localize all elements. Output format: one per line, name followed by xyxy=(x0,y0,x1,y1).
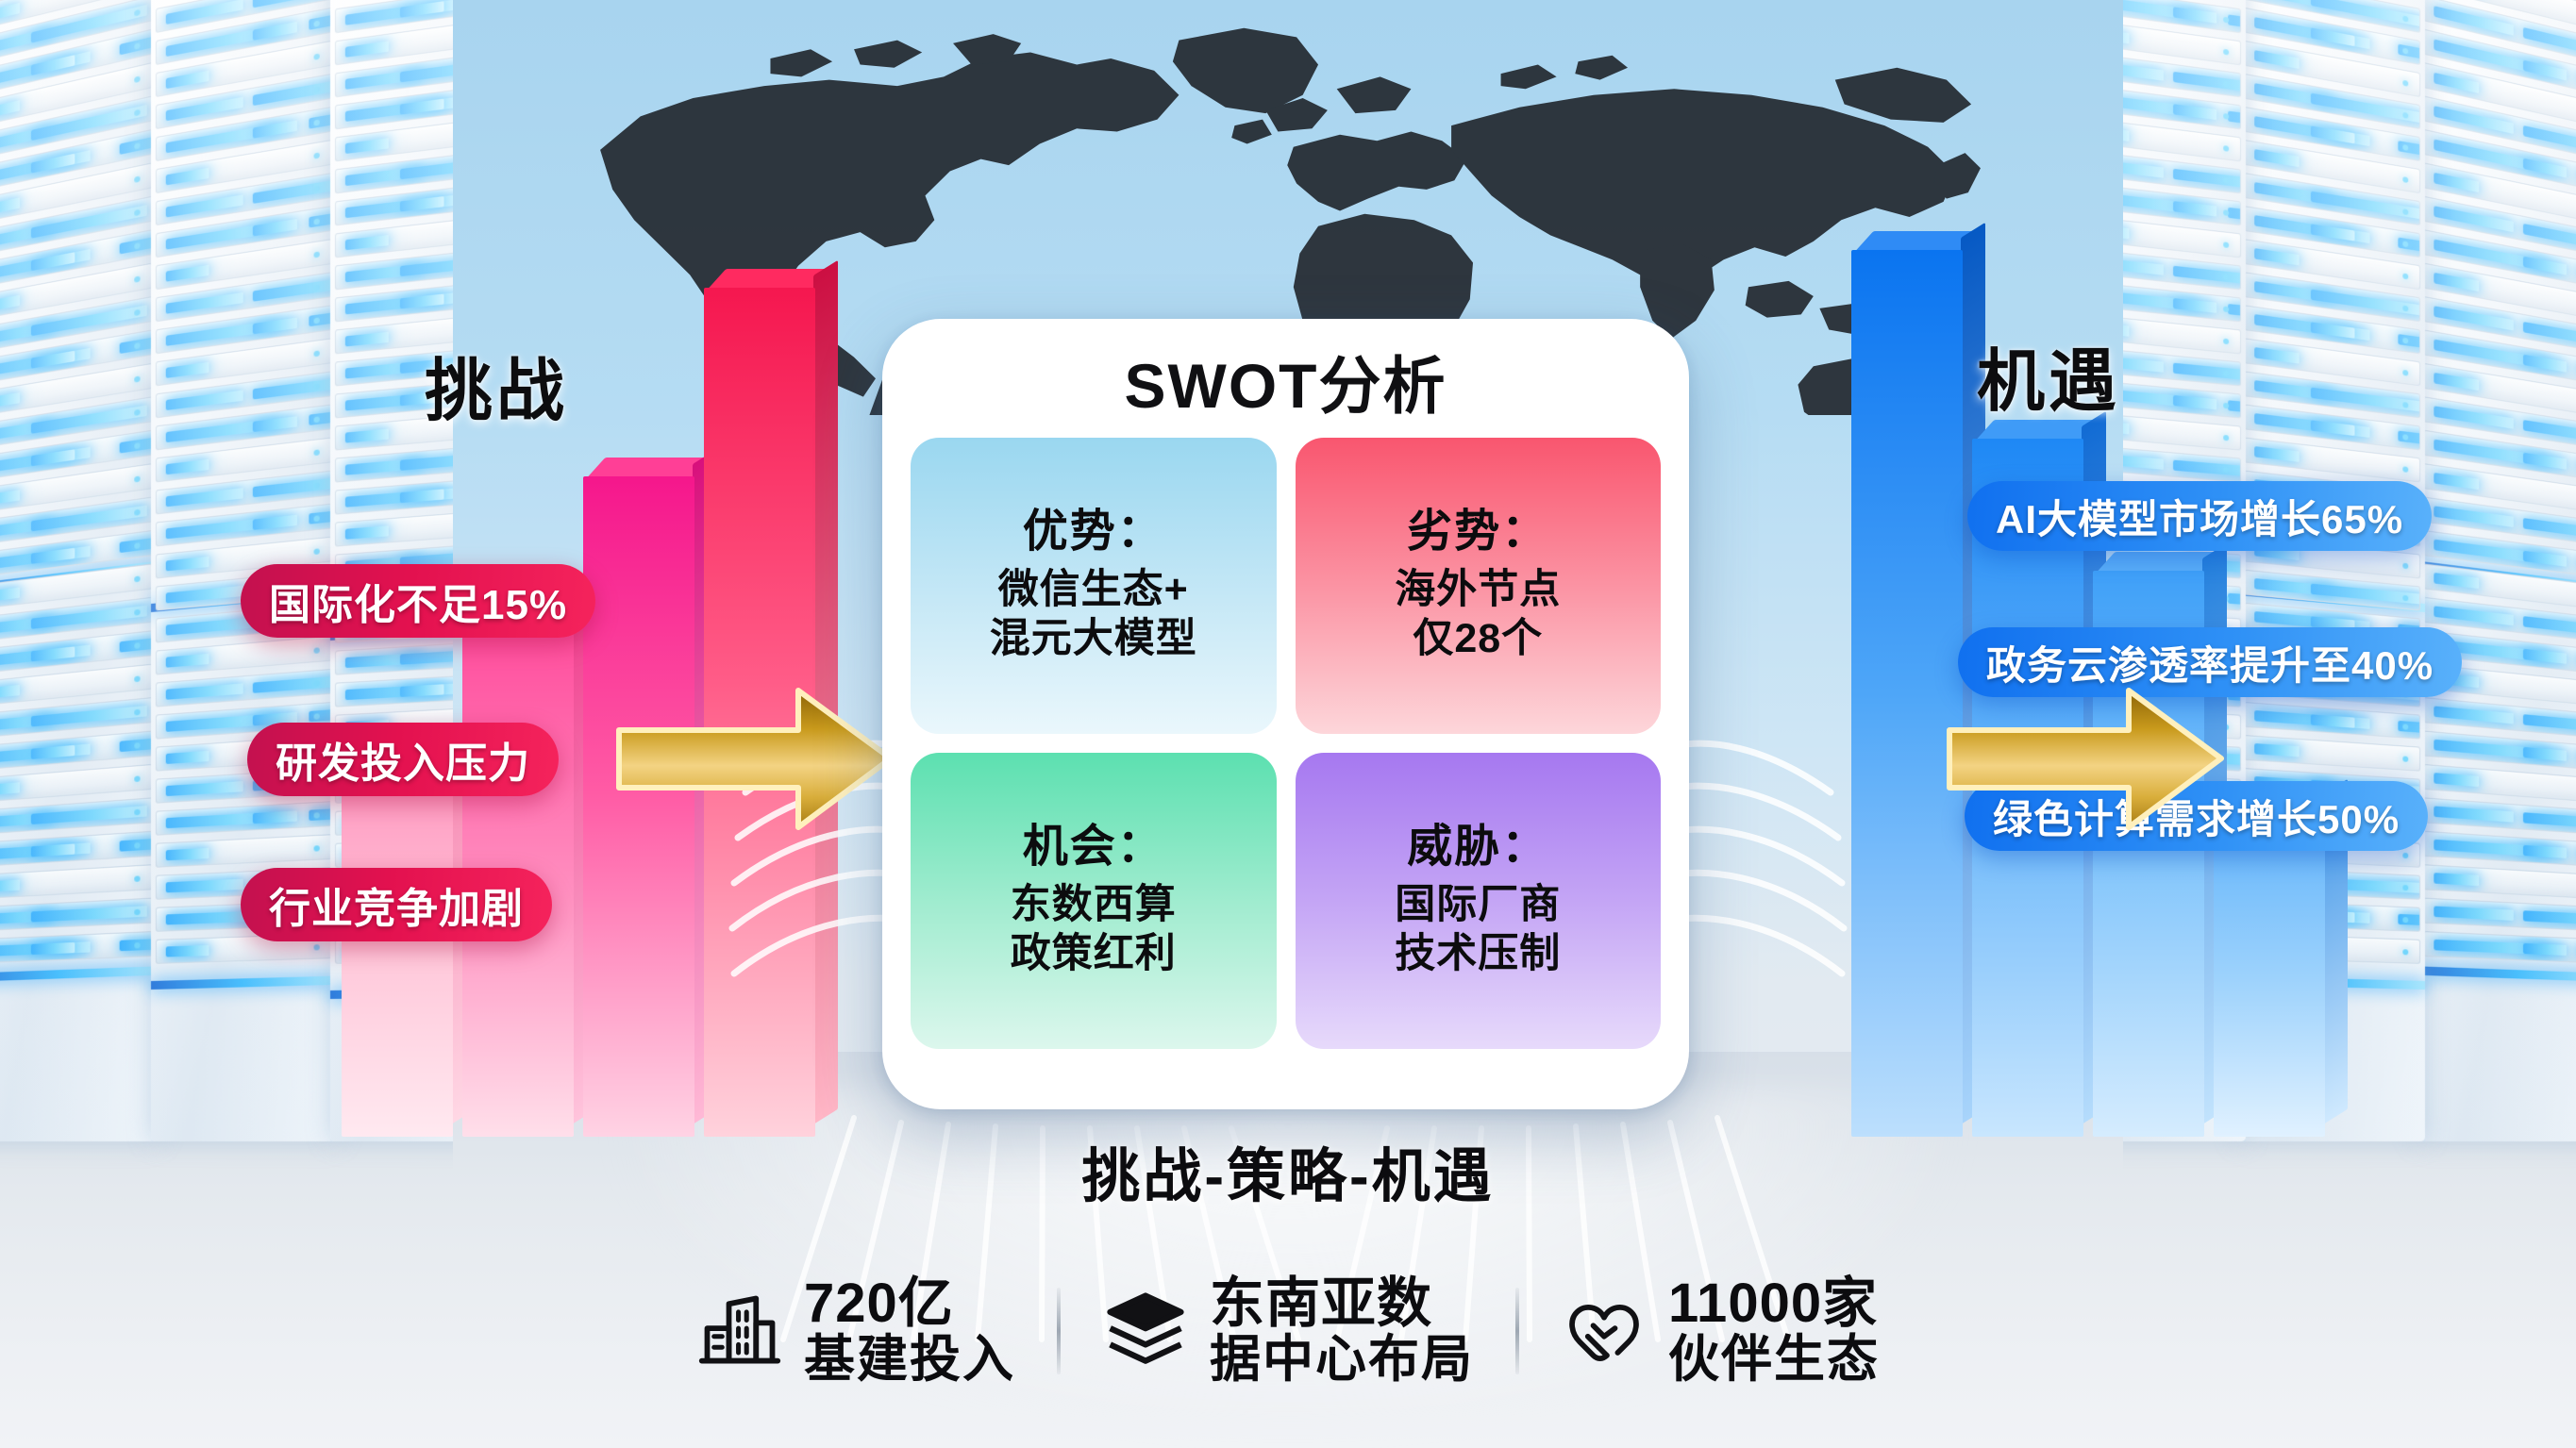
server-led xyxy=(0,322,54,345)
server-led xyxy=(166,654,209,668)
stat-item[interactable]: 720亿 基建投入 xyxy=(655,1275,1057,1387)
server-unit xyxy=(2244,272,2420,322)
server-led xyxy=(2434,840,2550,857)
server-led xyxy=(0,616,54,635)
server-led xyxy=(0,3,20,24)
quadrant-body-line-2: 技术压制 xyxy=(1395,929,1561,978)
server-unit xyxy=(335,674,453,707)
quadrant-body-line-1: 海外节点 xyxy=(1395,565,1561,614)
server-unit xyxy=(2123,18,2241,65)
server-led xyxy=(2434,806,2514,822)
server-led xyxy=(0,910,54,924)
server-led xyxy=(166,265,209,282)
server-led xyxy=(2123,60,2164,81)
server-status-dot xyxy=(134,675,140,682)
server-unit xyxy=(335,444,453,483)
server-led xyxy=(2434,906,2514,920)
server-led xyxy=(2434,273,2479,291)
server-led xyxy=(120,734,154,752)
server-status-dot xyxy=(134,775,140,782)
server-unit xyxy=(0,496,153,546)
server-led xyxy=(166,362,209,378)
gold-arrow-right-icon xyxy=(1944,681,2227,837)
server-led xyxy=(2228,304,2241,322)
server-led xyxy=(166,0,243,25)
server-led xyxy=(2434,473,2479,490)
server-status-dot xyxy=(134,342,140,349)
server-status-dot xyxy=(134,142,140,150)
server-status-dot xyxy=(2223,403,2229,409)
challenge-pill-3[interactable]: 行业竞争加剧 xyxy=(241,868,552,941)
server-led xyxy=(253,810,297,824)
server-unit xyxy=(2423,898,2576,932)
server-led xyxy=(345,166,423,186)
server-led xyxy=(253,22,297,41)
server-status-dot xyxy=(134,175,140,183)
swot-quadrant-strength[interactable]: 优势： 微信生态+ 混元大模型 xyxy=(911,438,1277,734)
server-unit xyxy=(2423,697,2576,740)
server-led xyxy=(2398,334,2420,354)
server-led xyxy=(345,525,389,540)
quadrant-body-line-1: 国际厂商 xyxy=(1395,880,1561,929)
server-led xyxy=(2434,506,2514,527)
server-led xyxy=(2311,290,2420,316)
server-led xyxy=(0,348,91,377)
server-unit xyxy=(0,831,153,868)
server-status-dot xyxy=(134,475,140,482)
server-status-dot xyxy=(134,542,140,549)
server-led xyxy=(2123,420,2129,434)
server-status-dot xyxy=(2223,177,2229,184)
server-led xyxy=(0,685,20,700)
server-unit xyxy=(2244,0,2420,33)
server-status-dot xyxy=(314,845,320,851)
server-unit xyxy=(2423,0,2576,65)
server-unit xyxy=(2244,140,2420,193)
server-led xyxy=(2523,910,2576,926)
flow-caption: 挑战-策略-机遇 xyxy=(0,1128,2576,1213)
server-led xyxy=(0,518,54,539)
challenge-pill-1[interactable]: 国际化不足15% xyxy=(241,564,595,638)
server-unit xyxy=(156,239,332,290)
server-unit xyxy=(2423,229,2576,290)
server-status-dot xyxy=(2402,241,2408,247)
server-led xyxy=(345,69,423,90)
server-status-dot xyxy=(314,350,320,357)
server-unit xyxy=(2423,563,2576,610)
server-unit xyxy=(2244,735,2420,772)
server-led xyxy=(400,293,444,308)
server-status-dot xyxy=(2402,338,2408,344)
server-status-dot xyxy=(134,609,140,616)
server-status-dot xyxy=(314,87,320,93)
server-status-dot xyxy=(2223,241,2229,248)
server-led xyxy=(2254,380,2333,401)
server-led xyxy=(2123,158,2164,178)
heading-challenges: 挑战 xyxy=(425,335,568,434)
server-unit xyxy=(2423,329,2576,386)
server-status-dot xyxy=(2402,176,2408,183)
server-unit xyxy=(0,530,153,579)
server-status-dot xyxy=(134,42,140,50)
server-unit xyxy=(0,597,153,643)
server-unit xyxy=(0,262,153,322)
server-status-dot xyxy=(2402,563,2408,570)
server-status-dot xyxy=(314,515,320,522)
server-unit xyxy=(156,74,332,129)
server-led xyxy=(2398,914,2420,927)
server-unit xyxy=(0,764,153,804)
server-status-dot xyxy=(2223,145,2229,152)
server-led xyxy=(345,653,423,668)
server-unit xyxy=(0,329,153,386)
server-led xyxy=(0,249,91,281)
server-unit xyxy=(335,51,453,97)
server-led xyxy=(31,646,75,661)
server-led xyxy=(2434,140,2550,175)
server-status-dot xyxy=(2223,17,2229,24)
server-status-dot xyxy=(2402,853,2408,858)
quadrant-body-line-1: 微信生态+ xyxy=(998,565,1189,614)
server-status-dot xyxy=(2402,756,2408,761)
server-unit xyxy=(2123,116,2241,161)
server-unit xyxy=(2123,214,2241,258)
server-led xyxy=(2434,773,2479,787)
server-unit xyxy=(0,664,153,707)
server-unit xyxy=(156,636,332,675)
server-led xyxy=(120,836,154,852)
server-status-dot xyxy=(314,482,320,489)
stat-item[interactable]: 11000家 伙伴生态 xyxy=(1519,1275,1921,1387)
server-unit xyxy=(0,162,153,225)
quadrant-body-line-1: 东数西算 xyxy=(1011,880,1177,929)
server-led xyxy=(2523,714,2576,735)
building-icon xyxy=(696,1288,783,1374)
server-led xyxy=(400,99,444,115)
server-unit xyxy=(2423,530,2576,579)
server-led xyxy=(2254,314,2369,341)
server-led xyxy=(2523,355,2567,373)
quadrant-title: 威胁： xyxy=(1407,823,1548,873)
gold-arrow-right-icon xyxy=(613,681,896,837)
server-status-dot xyxy=(314,185,320,191)
server-led xyxy=(0,546,91,571)
server-unit xyxy=(156,140,332,193)
server-led xyxy=(253,318,297,335)
server-unit xyxy=(2423,430,2576,483)
server-unit xyxy=(0,797,153,835)
server-led xyxy=(309,206,332,227)
server-led xyxy=(345,138,389,154)
server-led xyxy=(2311,388,2420,412)
server-led xyxy=(166,459,209,474)
server-led xyxy=(2254,50,2299,69)
server-rack xyxy=(0,0,158,1141)
server-led xyxy=(2434,106,2514,134)
server-unit xyxy=(156,471,332,515)
server-led xyxy=(2228,400,2241,417)
server-led xyxy=(253,674,332,693)
server-led xyxy=(166,25,280,57)
server-status-dot xyxy=(314,812,320,819)
server-status-dot xyxy=(134,742,140,749)
server-led xyxy=(2123,257,2164,275)
server-unit xyxy=(0,898,153,932)
server-led xyxy=(2398,721,2420,737)
server-unit xyxy=(2244,371,2420,418)
stat-item[interactable]: 东南亚数 据中心布局 xyxy=(1061,1275,1515,1387)
server-status-dot xyxy=(314,284,320,291)
server-unit xyxy=(156,669,332,707)
server-led xyxy=(2123,224,2129,239)
server-led xyxy=(2311,27,2355,46)
server-led xyxy=(309,8,332,30)
server-status-dot xyxy=(134,909,140,916)
server-unit xyxy=(0,0,153,33)
server-status-dot xyxy=(2402,885,2408,890)
server-status-dot xyxy=(134,309,140,316)
server-led xyxy=(2434,39,2550,76)
server-led xyxy=(31,449,75,466)
server-led xyxy=(31,942,75,955)
server-led xyxy=(2123,453,2164,470)
server-led xyxy=(166,97,243,122)
server-unit xyxy=(0,296,153,354)
server-status-dot xyxy=(2223,113,2229,120)
server-unit xyxy=(2123,411,2241,451)
server-led xyxy=(2434,740,2550,760)
server-led xyxy=(2311,191,2420,220)
server-led xyxy=(0,150,91,185)
server-unit xyxy=(2123,345,2241,386)
server-led xyxy=(345,458,423,475)
server-status-dot xyxy=(2402,949,2408,955)
server-led xyxy=(2123,355,2164,373)
server-unit xyxy=(2423,62,2576,129)
server-led xyxy=(2434,206,2514,232)
server-status-dot xyxy=(134,842,140,849)
server-unit xyxy=(335,18,453,65)
server-status-dot xyxy=(134,575,140,582)
server-led xyxy=(166,751,209,764)
server-led xyxy=(2434,173,2479,192)
server-status-dot xyxy=(314,21,320,27)
server-led xyxy=(253,120,297,138)
server-status-dot xyxy=(2402,434,2408,441)
server-led xyxy=(0,447,91,474)
server-led xyxy=(2523,322,2576,352)
handshake-icon xyxy=(1561,1288,1648,1374)
server-led xyxy=(2228,208,2241,226)
server-status-dot xyxy=(2223,209,2229,216)
server-led xyxy=(2254,83,2333,108)
server-unit xyxy=(335,280,453,323)
server-led xyxy=(2254,182,2333,206)
server-led xyxy=(120,28,154,55)
swot-quadrant-opportunity[interactable]: 机会： 东数西算 政策红利 xyxy=(911,753,1277,1049)
server-led xyxy=(120,937,154,951)
server-led xyxy=(253,374,332,400)
server-led xyxy=(2254,215,2369,243)
server-unit xyxy=(2244,8,2420,65)
server-status-dot xyxy=(134,9,140,17)
server-led xyxy=(2173,7,2216,23)
server-led xyxy=(2434,706,2514,724)
server-status-dot xyxy=(134,375,140,382)
server-unit xyxy=(2423,730,2576,771)
server-led xyxy=(253,75,332,106)
server-led xyxy=(2311,93,2420,124)
server-rack xyxy=(2418,0,2576,1141)
server-led xyxy=(2254,347,2299,364)
server-led xyxy=(120,329,154,354)
server-unit xyxy=(2423,463,2576,514)
server-led xyxy=(345,361,423,379)
server-unit xyxy=(2123,280,2241,323)
server-led xyxy=(2523,158,2567,178)
server-led xyxy=(166,292,243,314)
server-led xyxy=(2311,322,2355,339)
server-led xyxy=(0,197,20,216)
server-led xyxy=(345,429,389,443)
server-led xyxy=(120,633,154,653)
server-led xyxy=(2523,616,2576,639)
server-led xyxy=(2523,27,2576,64)
server-led xyxy=(2434,940,2550,955)
server-led xyxy=(2123,125,2129,141)
server-led xyxy=(166,781,243,796)
stat-label: 基建投入 xyxy=(804,1333,1015,1387)
server-led xyxy=(2311,420,2355,436)
server-status-dot xyxy=(2402,724,2408,729)
server-status-dot xyxy=(2223,371,2229,377)
server-led xyxy=(0,842,91,860)
server-status-dot xyxy=(2223,307,2229,313)
server-unit xyxy=(156,404,332,450)
server-unit xyxy=(335,0,453,33)
server-status-dot xyxy=(314,152,320,158)
server-led xyxy=(309,706,332,722)
server-unit xyxy=(2244,702,2420,740)
server-unit xyxy=(156,41,332,97)
server-unit xyxy=(2423,162,2576,225)
server-led xyxy=(166,124,280,154)
server-led xyxy=(345,235,389,250)
server-led xyxy=(166,557,209,572)
server-status-dot xyxy=(2223,467,2229,474)
server-unit xyxy=(2123,182,2241,226)
opportunity-pill-1[interactable]: AI大模型市场增长65% xyxy=(1967,481,2432,551)
server-led xyxy=(166,586,243,604)
server-led xyxy=(31,548,75,564)
server-led xyxy=(31,305,147,336)
server-led xyxy=(2254,248,2299,265)
server-led xyxy=(166,418,280,442)
server-led xyxy=(120,229,154,255)
server-led xyxy=(31,105,147,141)
server-status-dot xyxy=(134,809,140,816)
server-status-dot xyxy=(2402,917,2408,923)
server-unit xyxy=(2423,95,2576,161)
server-unit xyxy=(335,116,453,161)
swot-quadrant-grid: 优势： 微信生态+ 混元大模型 劣势： 海外节点 仅28个 机会： 东数西算 政… xyxy=(911,438,1661,1049)
server-led xyxy=(253,416,297,432)
server-led xyxy=(2523,845,2567,858)
server-led xyxy=(0,645,91,668)
server-status-dot xyxy=(314,944,320,950)
server-status-dot xyxy=(2402,208,2408,215)
server-led xyxy=(2123,387,2200,408)
server-led xyxy=(309,806,332,821)
server-led xyxy=(0,490,20,506)
server-unit xyxy=(156,437,332,482)
swot-quadrant-weakness[interactable]: 劣势： 海外节点 仅28个 xyxy=(1296,438,1662,734)
server-unit xyxy=(0,28,153,96)
server-led xyxy=(2123,191,2200,214)
server-unit xyxy=(156,305,332,354)
server-led xyxy=(2173,363,2241,384)
server-led xyxy=(400,684,444,697)
server-unit xyxy=(0,463,153,514)
stat-label: 伙伴生态 xyxy=(1668,1333,1880,1387)
server-unit xyxy=(156,173,332,225)
server-status-dot xyxy=(314,317,320,324)
server-led xyxy=(309,505,332,524)
server-led xyxy=(31,506,147,532)
server-led xyxy=(0,100,20,120)
server-led xyxy=(2254,710,2369,729)
server-unit xyxy=(2123,378,2241,418)
server-unit xyxy=(2123,444,2241,483)
server-led xyxy=(166,222,280,250)
server-led xyxy=(120,129,154,155)
server-led xyxy=(253,275,332,302)
server-led xyxy=(2523,257,2567,275)
server-unit xyxy=(2423,129,2576,193)
server-led xyxy=(2254,743,2299,757)
server-status-dot xyxy=(314,449,320,456)
server-led xyxy=(2523,551,2567,567)
stat-label: 据中心布局 xyxy=(1210,1333,1474,1387)
server-unit xyxy=(335,182,453,226)
server-led xyxy=(253,474,332,497)
server-led xyxy=(0,125,54,153)
server-led xyxy=(0,420,54,442)
server-led xyxy=(2434,373,2479,391)
server-unit xyxy=(2244,206,2420,258)
challenge-pill-2[interactable]: 研发投入压力 xyxy=(247,723,559,796)
server-led xyxy=(253,0,332,8)
server-led xyxy=(31,252,75,271)
server-led xyxy=(2123,289,2200,311)
quadrant-title: 优势： xyxy=(1023,508,1164,558)
server-led xyxy=(31,745,75,759)
server-unit xyxy=(2244,239,2420,290)
server-led xyxy=(2173,266,2241,289)
server-led xyxy=(0,714,54,732)
quadrant-body-line-2: 仅28个 xyxy=(1413,614,1543,663)
server-led xyxy=(31,906,147,922)
server-unit xyxy=(2244,437,2420,482)
server-led xyxy=(2434,573,2479,589)
swot-quadrant-threat[interactable]: 威胁： 国际厂商 技术压制 xyxy=(1296,753,1662,1049)
server-led xyxy=(166,811,280,828)
server-status-dot xyxy=(314,54,320,60)
server-led xyxy=(31,205,147,239)
server-unit xyxy=(2423,28,2576,96)
server-led xyxy=(400,196,444,211)
server-led xyxy=(2254,413,2369,438)
